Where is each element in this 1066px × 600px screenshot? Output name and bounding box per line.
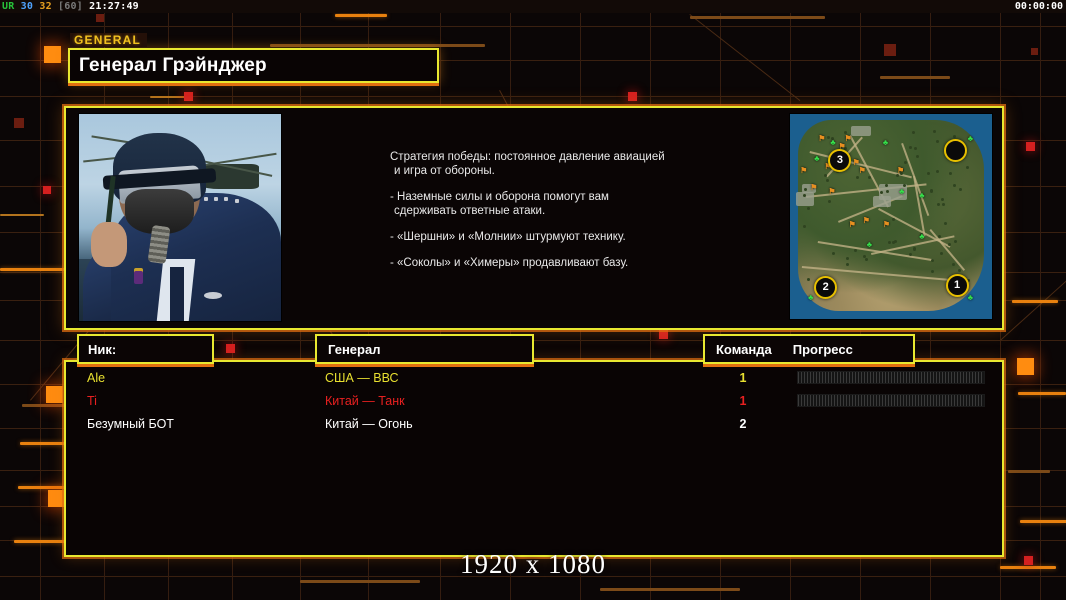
dash-deco [1018,392,1066,395]
strategy-paragraph: - «Соколы» и «Химеры» продавливают базу. [390,256,720,270]
map-supply-icon: ♣ [883,139,890,147]
fps-segment: 21:27:49 [83,1,139,12]
map-tree [938,235,941,238]
dash-deco [18,486,66,489]
game-lobby-screen: UR 30 32 [60] 21:27:49 00:00:00 GENERAL … [0,0,1066,600]
map-structure-icon: ⚑ [849,221,856,229]
table-row[interactable]: TiКитай — Танк1 [66,389,1002,412]
resolution-watermark: 1920 x 1080 [0,549,1066,580]
map-start-position-1[interactable]: 1 [946,274,969,297]
dash-deco [1020,520,1066,523]
column-header-team-progress: Команда Прогресс [703,334,915,364]
player-nick: Ale [87,371,105,385]
map-supply-icon: ♣ [808,294,815,302]
strategy-line: - «Соколы» и «Химеры» продавливают базу. [390,256,720,270]
accent-square-deco [48,490,65,507]
strategy-description: Стратегия победы: постоянное давление ав… [390,150,720,270]
map-structure-icon: ⚑ [818,135,825,143]
general-info-panel: Стратегия победы: постоянное давление ав… [64,106,1004,330]
player-team: 1 [730,371,756,385]
general-tab-label[interactable]: GENERAL [70,33,147,47]
map-structure-icon: ⚑ [800,167,807,175]
player-general: Китай — Танк [325,394,405,408]
hud-overlay-strip: UR 30 32 [60] 21:27:49 00:00:00 [0,0,1066,13]
fps-segment: UR [2,1,14,12]
accent-square-deco [628,92,637,101]
progress-bar [797,371,985,384]
map-supply-icon: ♣ [814,155,821,163]
map-tree [888,241,891,244]
strategy-paragraph: - Наземные силы и оборона помогут вамсде… [390,190,720,218]
map-supply-icon: ♣ [899,188,906,196]
column-header-team-label: Команда [705,342,772,357]
portrait-hand [91,222,127,268]
map-tree [826,179,829,182]
map-supply-icon: ♣ [968,294,975,302]
accent-square-deco [226,344,235,353]
map-structure-icon: ⚑ [883,221,890,229]
map-tree [824,174,827,177]
rank-star-icon [214,197,218,201]
map-tree [949,172,952,175]
map-tree [927,172,930,175]
player-nick: Ti [87,394,97,408]
dash-deco [690,16,825,19]
map-structure-icon: ⚑ [810,184,817,192]
map-supply-icon: ♣ [919,233,926,241]
column-header-progress-label: Прогресс [772,342,853,357]
table-row[interactable]: AleСША — ВВС1 [66,366,1002,389]
column-header-nick: Ник: [77,334,214,364]
map-tree [828,200,831,203]
accent-square-deco [96,14,104,22]
player-progress [797,371,985,384]
map-tree [846,263,849,266]
column-header-general-label: Генерал [317,342,380,357]
dash-deco [1012,300,1058,303]
player-nick: Безумный БОТ [87,417,174,431]
map-urban-block [873,196,891,207]
map-tree [930,190,933,193]
column-header-general: Генерал [315,334,534,364]
strategy-line: Стратегия победы: постоянное давление ав… [390,150,720,164]
map-tree [807,278,810,281]
map-tree [909,253,912,256]
strategy-line: сдерживать ответные атаки. [390,204,720,218]
fps-segment: 32 [33,1,52,12]
dash-deco [0,214,44,216]
map-start-position-4[interactable] [944,139,967,162]
player-progress [797,394,985,407]
rank-star-icon [235,199,239,203]
column-header-nick-label: Ник: [79,342,116,357]
portrait-tie [170,267,184,321]
fps-segment: 30 [14,1,33,12]
map-supply-icon: ♣ [830,139,837,147]
map-tree [807,207,810,210]
map-preview[interactable]: ♣♣♣♣♣♣♣♣♣♣⚑⚑⚑⚑⚑⚑⚑⚑⚑⚑⚑⚑⚑ 123 [789,113,993,320]
map-structure-icon: ⚑ [828,188,835,196]
map-tree [846,257,849,260]
page-title: Генерал Грэйнджер [70,55,267,77]
map-structure-icon: ⚑ [897,167,904,175]
map-structure-icon: ⚑ [859,167,866,175]
accent-square-deco [1017,358,1034,375]
accent-square-deco [884,44,896,56]
map-tree [958,269,961,272]
map-tree [892,218,895,221]
accent-square-deco [43,186,51,194]
vline-deco [40,13,41,600]
dash-deco [880,76,950,79]
medal-ribbons [190,246,243,271]
general-title-box: Генерал Грэйнджер [68,48,439,83]
dash-deco [300,580,420,583]
match-timer: 00:00:00 [1015,0,1063,13]
fps-readout: UR 30 32 [60] 21:27:49 [2,0,139,13]
rank-star-icon [224,197,228,201]
map-tree [953,135,956,138]
player-team: 1 [730,394,756,408]
accent-square-deco [1031,48,1038,55]
hline-deco [0,26,1066,27]
player-team: 2 [730,417,756,431]
general-portrait [78,113,282,322]
map-supply-icon: ♣ [867,241,874,249]
player-list-panel: AleСША — ВВС1TiКитай — Танк1Безумный БОТ… [64,360,1004,557]
vline-deco [1040,13,1041,600]
accent-square-deco [184,92,193,101]
accent-square-deco [14,118,24,128]
strategy-paragraph: - «Шершни» и «Молнии» штурмуют технику. [390,230,720,244]
rank-star-icon [204,197,208,201]
fps-segment: [60] [52,1,83,12]
diag-deco [1000,260,1066,341]
table-row[interactable]: Безумный БОТКитай — Огонь2 [66,412,1002,435]
player-progress [797,417,985,430]
map-urban-block [851,126,871,136]
map-tree [948,243,951,246]
dash-deco [1008,470,1050,473]
map-tree [863,255,866,258]
strategy-line: - «Шершни» и «Молнии» штурмуют технику. [390,230,720,244]
progress-bar [797,394,985,407]
medal-icon [134,271,143,284]
map-structure-icon: ⚑ [863,217,870,225]
map-tree [937,203,940,206]
map-supply-icon: ♣ [968,135,975,143]
accent-square-deco [46,386,63,403]
dash-deco [600,588,740,591]
dash-deco [335,14,387,17]
strategy-paragraph: Стратегия победы: постоянное давление ав… [390,150,720,178]
strategy-line: и игра от обороны. [390,164,720,178]
dash-deco [0,268,70,271]
diag-deco [689,14,800,101]
accent-square-deco [659,330,668,339]
hline-deco [0,96,1066,97]
map-supply-icon: ♣ [919,192,926,200]
map-tree [940,252,943,255]
accent-square-deco [1026,142,1035,151]
player-general: США — ВВС [325,371,399,385]
map-tree [886,190,889,193]
accent-square-deco [44,46,61,63]
dash-deco [150,96,190,98]
strategy-line: - Наземные силы и оборона помогут вам [390,190,720,204]
player-general: Китай — Огонь [325,417,413,431]
dash-deco [270,44,485,47]
